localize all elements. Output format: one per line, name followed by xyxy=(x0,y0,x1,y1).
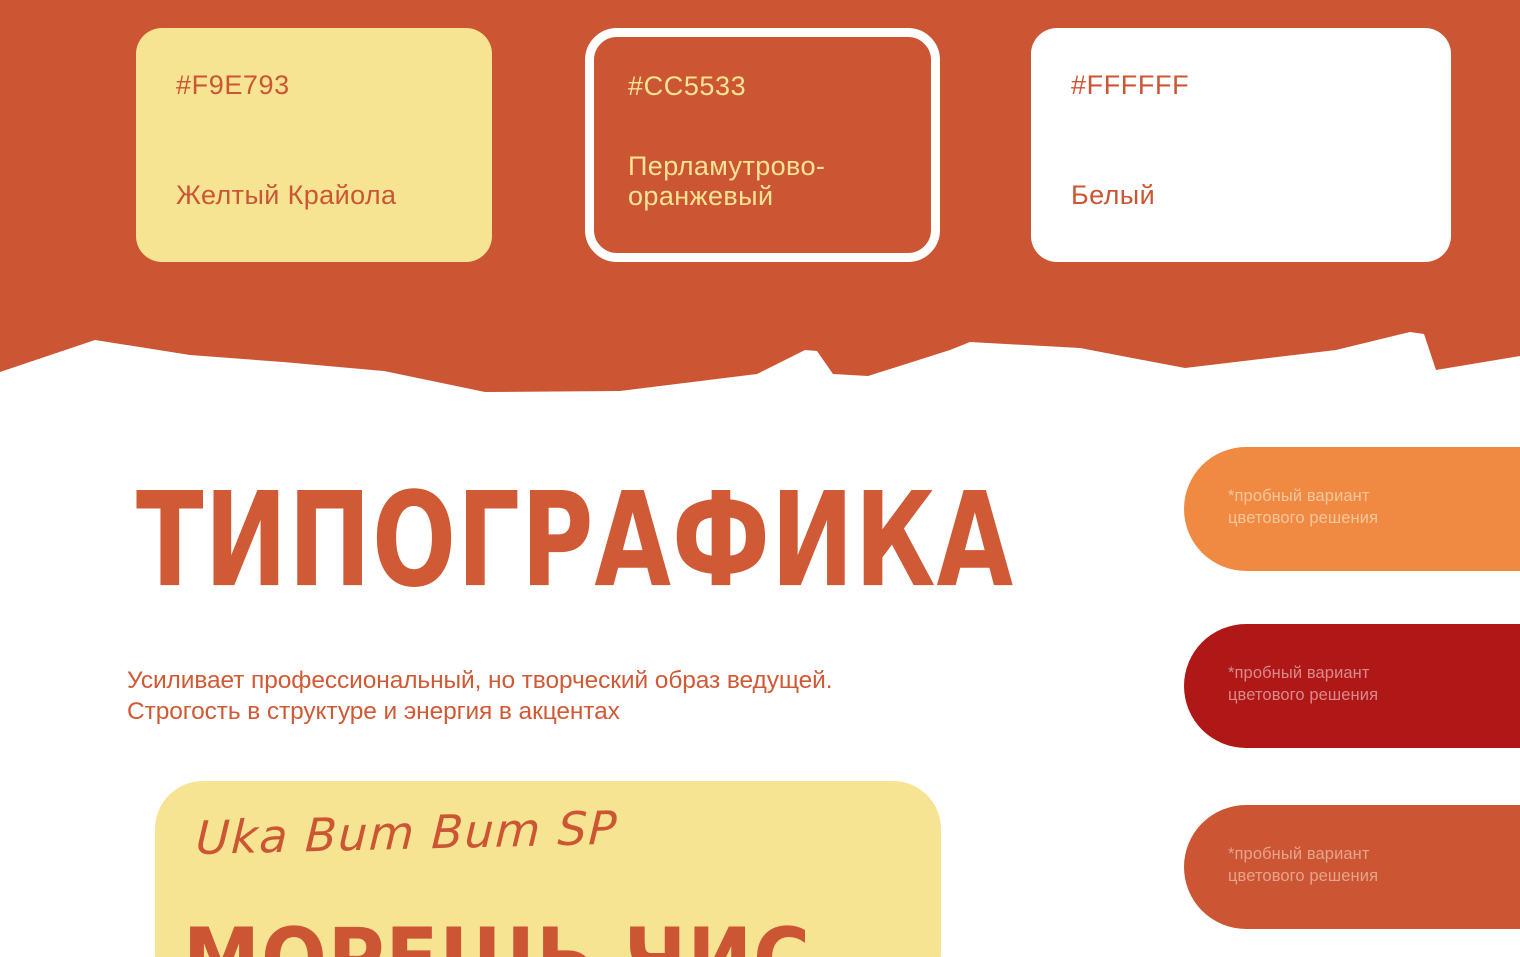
swatch-name-white: Белый xyxy=(1071,180,1155,210)
trial-color-note-2-line-2: цветового решения xyxy=(1228,686,1378,704)
trial-color-note-3-line-1: *пробный вариант xyxy=(1228,845,1370,863)
trial-color-note-3-line-2: цветового решения xyxy=(1228,867,1378,885)
trial-color-note-2: *пробный вариантцветового решения xyxy=(1228,662,1520,706)
trial-color-note-1-line-2: цветового решения xyxy=(1228,509,1378,527)
swatch-name-orange: Перламутрово-оранжевый xyxy=(628,151,931,211)
swatch-card-white: #FFFFFF Белый xyxy=(1031,28,1451,262)
typography-description: Усиливает профессиональный, но творчески… xyxy=(127,665,1167,728)
font-specimen-display-sample: МОРЕШЬ ЧИС xyxy=(183,917,811,957)
typography-description-line-1: Усиливает профессиональный, но творчески… xyxy=(127,667,832,694)
brand-board-page: #F9E793 Желтый Крайола #CC5533 Перламутр… xyxy=(0,0,1520,957)
trial-color-note-1-line-1: *пробный вариант xyxy=(1228,487,1370,505)
swatch-hex-white: #FFFFFF xyxy=(1071,72,1411,99)
trial-color-pill-terracotta: *пробный вариантцветового решения xyxy=(1184,805,1520,929)
trial-color-note-1: *пробный вариантцветового решения xyxy=(1228,485,1520,529)
swatch-card-orange: #CC5533 Перламутрово-оранжевый xyxy=(585,28,940,262)
page-title-typography: ТИПОГРАФИКА xyxy=(136,476,1014,607)
typography-description-line-2: Строгость в структуре и энергия в акцент… xyxy=(127,698,620,725)
swatch-card-yellow: #F9E793 Желтый Крайола xyxy=(136,28,492,262)
font-specimen-card: Uka Bum Bum SP МОРЕШЬ ЧИС xyxy=(155,781,941,957)
swatch-name-yellow: Желтый Крайола xyxy=(176,180,396,210)
trial-color-pill-crimson: *пробный вариантцветового решения xyxy=(1184,624,1520,748)
trial-color-note-2-line-1: *пробный вариант xyxy=(1228,664,1370,682)
trial-color-note-3: *пробный вариантцветового решения xyxy=(1228,843,1520,887)
trial-color-pill-orange: *пробный вариантцветового решения xyxy=(1184,447,1520,571)
font-specimen-script-name: Uka Bum Bum SP xyxy=(195,805,619,861)
swatch-hex-yellow: #F9E793 xyxy=(176,72,452,99)
swatch-hex-orange: #CC5533 xyxy=(628,73,897,100)
